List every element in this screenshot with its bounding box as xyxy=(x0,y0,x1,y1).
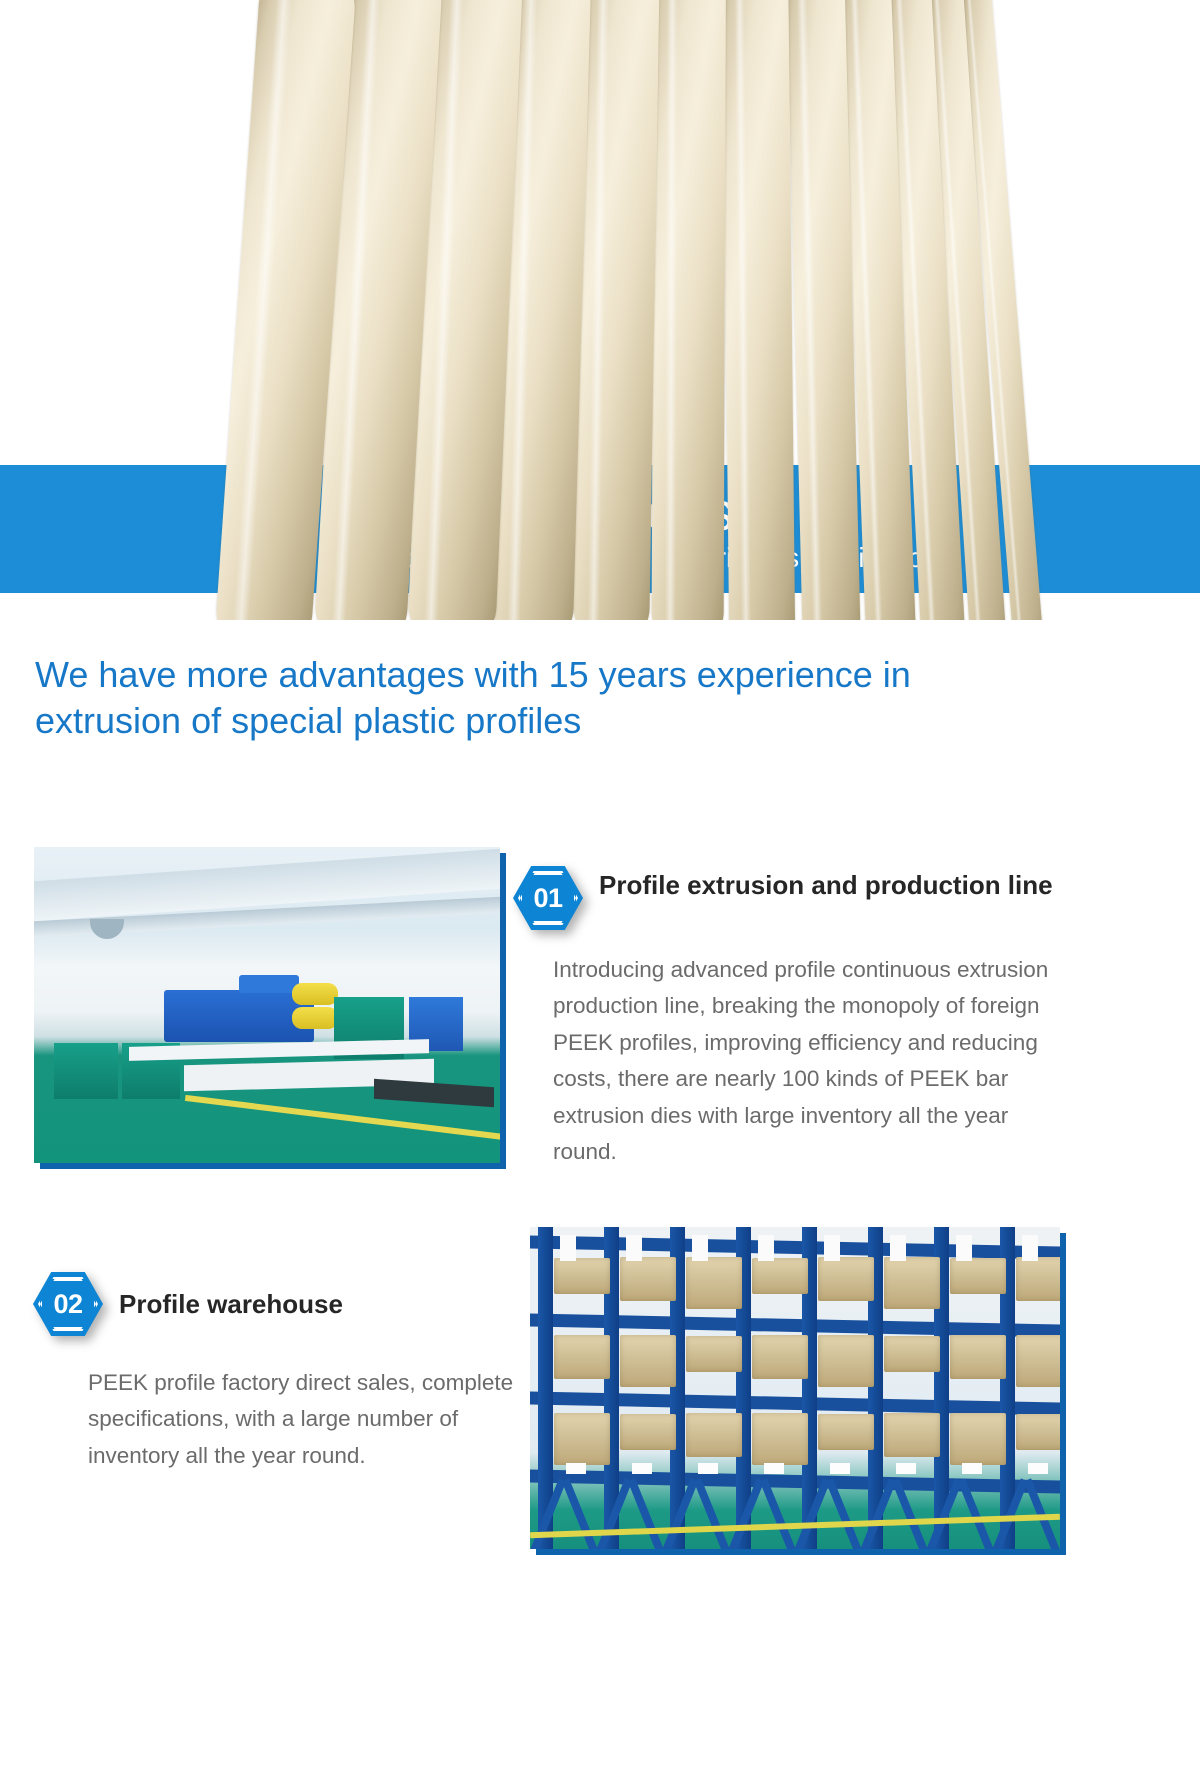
hero-section: PEEK rods Used for processing PEEK parts… xyxy=(0,0,1200,620)
product-detail-page: PEEK rods Used for processing PEEK parts… xyxy=(0,0,1200,1787)
production-line-image xyxy=(34,847,500,1163)
section-01-title: Profile extrusion and production line xyxy=(599,866,1053,902)
section-02-title: Profile warehouse xyxy=(119,1288,343,1321)
section-02-body: PEEK profile factory direct sales, compl… xyxy=(88,1365,523,1474)
section-02-header: 02 Profile warehouse xyxy=(33,1272,503,1336)
warehouse-image xyxy=(530,1227,1060,1549)
hexagon-badge-icon: 01 xyxy=(513,866,583,930)
hexagon-badge-icon: 02 xyxy=(33,1272,103,1336)
section-01-header: 01 Profile extrusion and production line xyxy=(513,866,1063,930)
section-number: 02 xyxy=(33,1272,103,1336)
section-01-body: Introducing advanced profile continuous … xyxy=(553,952,1053,1171)
page-headline: We have more advantages with 15 years ex… xyxy=(35,652,1055,744)
section-number: 01 xyxy=(513,866,583,930)
